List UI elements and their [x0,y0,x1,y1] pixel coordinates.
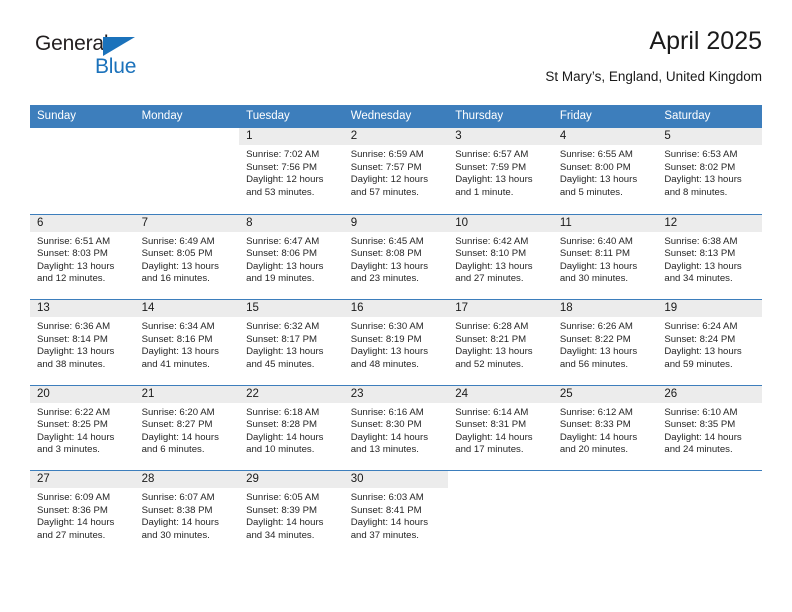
sunset-text: Sunset: 8:41 PM [351,505,445,518]
day-number: 28 [135,471,240,488]
sunrise-text: Sunrise: 6:53 AM [664,149,758,162]
day-sun-info: Sunrise: 6:45 AMSunset: 8:08 PMDaylight:… [344,232,449,286]
day-number [448,471,553,488]
daylight-text-line1: Daylight: 14 hours [142,517,236,530]
sunrise-text: Sunrise: 6:10 AM [664,407,758,420]
daylight-text-line2: and 57 minutes. [351,187,445,200]
daylight-text-line2: and 52 minutes. [455,359,549,372]
daylight-text-line1: Daylight: 13 hours [560,261,654,274]
calendar-weeks: 1Sunrise: 7:02 AMSunset: 7:56 PMDaylight… [30,128,762,556]
day-sun-info: Sunrise: 6:30 AMSunset: 8:19 PMDaylight:… [344,317,449,371]
daylight-text-line2: and 30 minutes. [142,530,236,543]
day-cell[interactable]: 23Sunrise: 6:16 AMSunset: 8:30 PMDayligh… [344,386,449,471]
day-sun-info: Sunrise: 6:36 AMSunset: 8:14 PMDaylight:… [30,317,135,371]
sunrise-text: Sunrise: 6:16 AM [351,407,445,420]
day-sun-info: Sunrise: 6:42 AMSunset: 8:10 PMDaylight:… [448,232,553,286]
page-subtitle: St Mary’s, England, United Kingdom [545,67,762,87]
logo-text-blue: Blue [95,55,136,79]
daylight-text-line1: Daylight: 14 hours [246,432,340,445]
daylight-text-line1: Daylight: 13 hours [246,261,340,274]
sunrise-text: Sunrise: 6:55 AM [560,149,654,162]
daylight-text-line2: and 34 minutes. [246,530,340,543]
day-sun-info: Sunrise: 6:20 AMSunset: 8:27 PMDaylight:… [135,403,240,457]
sunrise-text: Sunrise: 6:59 AM [351,149,445,162]
daylight-text-line1: Daylight: 13 hours [664,261,758,274]
day-cell[interactable]: 13Sunrise: 6:36 AMSunset: 8:14 PMDayligh… [30,300,135,385]
sunset-text: Sunset: 8:28 PM [246,419,340,432]
day-number: 25 [553,386,658,403]
day-number [553,471,658,488]
daylight-text-line1: Daylight: 13 hours [142,346,236,359]
day-cell[interactable]: 1Sunrise: 7:02 AMSunset: 7:56 PMDaylight… [239,128,344,214]
sunrise-text: Sunrise: 6:14 AM [455,407,549,420]
sunset-text: Sunset: 8:35 PM [664,419,758,432]
daylight-text-line1: Daylight: 14 hours [37,432,131,445]
day-cell[interactable]: 8Sunrise: 6:47 AMSunset: 8:06 PMDaylight… [239,215,344,300]
daylight-text-line2: and 5 minutes. [560,187,654,200]
day-sun-info: Sunrise: 6:03 AMSunset: 8:41 PMDaylight:… [344,488,449,542]
sunrise-text: Sunrise: 6:32 AM [246,321,340,334]
day-number: 15 [239,300,344,317]
daylight-text-line1: Daylight: 14 hours [664,432,758,445]
day-sun-info: Sunrise: 6:12 AMSunset: 8:33 PMDaylight:… [553,403,658,457]
sunrise-text: Sunrise: 6:30 AM [351,321,445,334]
day-sun-info: Sunrise: 6:07 AMSunset: 8:38 PMDaylight:… [135,488,240,542]
day-cell[interactable]: 25Sunrise: 6:12 AMSunset: 8:33 PMDayligh… [553,386,658,471]
day-cell[interactable]: 5Sunrise: 6:53 AMSunset: 8:02 PMDaylight… [657,128,762,214]
daylight-text-line2: and 45 minutes. [246,359,340,372]
calendar-week-row: 1Sunrise: 7:02 AMSunset: 7:56 PMDaylight… [30,128,762,214]
daylight-text-line2: and 27 minutes. [455,273,549,286]
logo-text-general: General [35,32,108,56]
sunrise-text: Sunrise: 6:49 AM [142,236,236,249]
daylight-text-line2: and 37 minutes. [351,530,445,543]
day-cell[interactable]: 11Sunrise: 6:40 AMSunset: 8:11 PMDayligh… [553,215,658,300]
day-number: 11 [553,215,658,232]
day-cell[interactable]: 15Sunrise: 6:32 AMSunset: 8:17 PMDayligh… [239,300,344,385]
daylight-text-line2: and 1 minute. [455,187,549,200]
day-cell[interactable]: 24Sunrise: 6:14 AMSunset: 8:31 PMDayligh… [448,386,553,471]
day-number: 17 [448,300,553,317]
daylight-text-line2: and 12 minutes. [37,273,131,286]
sunset-text: Sunset: 8:31 PM [455,419,549,432]
day-number: 30 [344,471,449,488]
sunset-text: Sunset: 8:33 PM [560,419,654,432]
daylight-text-line2: and 41 minutes. [142,359,236,372]
day-cell[interactable]: 6Sunrise: 6:51 AMSunset: 8:03 PMDaylight… [30,215,135,300]
day-cell[interactable]: 19Sunrise: 6:24 AMSunset: 8:24 PMDayligh… [657,300,762,385]
sunrise-text: Sunrise: 6:57 AM [455,149,549,162]
day-number: 16 [344,300,449,317]
day-number: 13 [30,300,135,317]
calendar-grid: Sunday Monday Tuesday Wednesday Thursday… [30,105,762,556]
day-number: 7 [135,215,240,232]
day-sun-info: Sunrise: 6:59 AMSunset: 7:57 PMDaylight:… [344,145,449,199]
sunrise-text: Sunrise: 6:38 AM [664,236,758,249]
daylight-text-line2: and 24 minutes. [664,444,758,457]
daylight-text-line1: Daylight: 14 hours [351,517,445,530]
weekday-header-tuesday: Tuesday [239,105,344,128]
sunset-text: Sunset: 8:25 PM [37,419,131,432]
day-sun-info: Sunrise: 6:05 AMSunset: 8:39 PMDaylight:… [239,488,344,542]
sunrise-text: Sunrise: 6:24 AM [664,321,758,334]
daylight-text-line2: and 53 minutes. [246,187,340,200]
sunrise-text: Sunrise: 6:51 AM [37,236,131,249]
sunset-text: Sunset: 8:24 PM [664,334,758,347]
day-sun-info: Sunrise: 6:24 AMSunset: 8:24 PMDaylight:… [657,317,762,371]
day-cell[interactable]: 4Sunrise: 6:55 AMSunset: 8:00 PMDaylight… [553,128,658,214]
sunset-text: Sunset: 8:17 PM [246,334,340,347]
weekday-header-sunday: Sunday [30,105,135,128]
calendar-week-row: 20Sunrise: 6:22 AMSunset: 8:25 PMDayligh… [30,385,762,471]
sunset-text: Sunset: 8:05 PM [142,248,236,261]
day-sun-info: Sunrise: 6:16 AMSunset: 8:30 PMDaylight:… [344,403,449,457]
sunset-text: Sunset: 8:02 PM [664,162,758,175]
day-sun-info: Sunrise: 6:51 AMSunset: 8:03 PMDaylight:… [30,232,135,286]
sunrise-text: Sunrise: 6:26 AM [560,321,654,334]
sunset-text: Sunset: 8:10 PM [455,248,549,261]
sunset-text: Sunset: 8:00 PM [560,162,654,175]
day-sun-info: Sunrise: 7:02 AMSunset: 7:56 PMDaylight:… [239,145,344,199]
calendar-week-row: 13Sunrise: 6:36 AMSunset: 8:14 PMDayligh… [30,299,762,385]
page-header: General Blue April 2025 St Mary’s, Engla… [30,24,762,94]
daylight-text-line2: and 16 minutes. [142,273,236,286]
daylight-text-line2: and 56 minutes. [560,359,654,372]
day-cell[interactable]: 3Sunrise: 6:57 AMSunset: 7:59 PMDaylight… [448,128,553,214]
sunset-text: Sunset: 8:19 PM [351,334,445,347]
sunrise-text: Sunrise: 6:22 AM [37,407,131,420]
daylight-text-line2: and 48 minutes. [351,359,445,372]
sunset-text: Sunset: 8:13 PM [664,248,758,261]
day-cell[interactable]: 18Sunrise: 6:26 AMSunset: 8:22 PMDayligh… [553,300,658,385]
daylight-text-line1: Daylight: 13 hours [455,346,549,359]
day-cell[interactable]: 17Sunrise: 6:28 AMSunset: 8:21 PMDayligh… [448,300,553,385]
day-number: 6 [30,215,135,232]
daylight-text-line1: Daylight: 14 hours [37,517,131,530]
daylight-text-line1: Daylight: 13 hours [351,261,445,274]
day-number: 24 [448,386,553,403]
day-cell[interactable]: 14Sunrise: 6:34 AMSunset: 8:16 PMDayligh… [135,300,240,385]
day-cell[interactable]: 12Sunrise: 6:38 AMSunset: 8:13 PMDayligh… [657,215,762,300]
weekday-header-monday: Monday [135,105,240,128]
daylight-text-line1: Daylight: 14 hours [351,432,445,445]
daylight-text-line2: and 13 minutes. [351,444,445,457]
day-number: 9 [344,215,449,232]
daylight-text-line1: Daylight: 13 hours [246,346,340,359]
sunset-text: Sunset: 8:30 PM [351,419,445,432]
day-sun-info: Sunrise: 6:55 AMSunset: 8:00 PMDaylight:… [553,145,658,199]
daylight-text-line2: and 23 minutes. [351,273,445,286]
day-number: 29 [239,471,344,488]
sunrise-text: Sunrise: 6:40 AM [560,236,654,249]
daylight-text-line1: Daylight: 14 hours [142,432,236,445]
sunrise-text: Sunrise: 6:36 AM [37,321,131,334]
daylight-text-line2: and 27 minutes. [37,530,131,543]
day-number: 22 [239,386,344,403]
sunset-text: Sunset: 8:21 PM [455,334,549,347]
daylight-text-line2: and 30 minutes. [560,273,654,286]
sunset-text: Sunset: 8:03 PM [37,248,131,261]
daylight-text-line1: Daylight: 14 hours [455,432,549,445]
daylight-text-line2: and 8 minutes. [664,187,758,200]
sunrise-text: Sunrise: 6:45 AM [351,236,445,249]
day-cell[interactable]: 2Sunrise: 6:59 AMSunset: 7:57 PMDaylight… [344,128,449,214]
daylight-text-line1: Daylight: 13 hours [455,261,549,274]
calendar-page: General Blue April 2025 St Mary’s, Engla… [0,0,792,612]
sunrise-text: Sunrise: 6:42 AM [455,236,549,249]
day-cell[interactable]: 27Sunrise: 6:09 AMSunset: 8:36 PMDayligh… [30,471,135,556]
sunset-text: Sunset: 8:14 PM [37,334,131,347]
day-number: 14 [135,300,240,317]
sunrise-text: Sunrise: 6:05 AM [246,492,340,505]
logo-triangle-icon [103,37,135,56]
daylight-text-line2: and 17 minutes. [455,444,549,457]
day-number: 19 [657,300,762,317]
day-number: 4 [553,128,658,145]
daylight-text-line1: Daylight: 13 hours [351,346,445,359]
sunset-text: Sunset: 7:57 PM [351,162,445,175]
day-number: 8 [239,215,344,232]
sunrise-text: Sunrise: 6:09 AM [37,492,131,505]
day-sun-info: Sunrise: 6:57 AMSunset: 7:59 PMDaylight:… [448,145,553,199]
daylight-text-line1: Daylight: 14 hours [560,432,654,445]
daylight-text-line1: Daylight: 14 hours [246,517,340,530]
sunrise-text: Sunrise: 6:07 AM [142,492,236,505]
daylight-text-line1: Daylight: 13 hours [455,174,549,187]
weekday-header-row: Sunday Monday Tuesday Wednesday Thursday… [30,105,762,128]
day-number: 20 [30,386,135,403]
sunset-text: Sunset: 8:06 PM [246,248,340,261]
sunrise-text: Sunrise: 6:18 AM [246,407,340,420]
day-sun-info: Sunrise: 6:47 AMSunset: 8:06 PMDaylight:… [239,232,344,286]
sunrise-text: Sunrise: 6:12 AM [560,407,654,420]
sunrise-text: Sunrise: 6:03 AM [351,492,445,505]
day-number: 1 [239,128,344,145]
daylight-text-line1: Daylight: 13 hours [560,174,654,187]
daylight-text-line2: and 10 minutes. [246,444,340,457]
day-sun-info: Sunrise: 6:40 AMSunset: 8:11 PMDaylight:… [553,232,658,286]
day-sun-info: Sunrise: 6:22 AMSunset: 8:25 PMDaylight:… [30,403,135,457]
daylight-text-line1: Daylight: 13 hours [560,346,654,359]
daylight-text-line2: and 59 minutes. [664,359,758,372]
sunset-text: Sunset: 8:08 PM [351,248,445,261]
daylight-text-line1: Daylight: 13 hours [37,346,131,359]
daylight-text-line2: and 20 minutes. [560,444,654,457]
day-number: 18 [553,300,658,317]
sunset-text: Sunset: 8:16 PM [142,334,236,347]
day-number: 27 [30,471,135,488]
day-cell[interactable]: 28Sunrise: 6:07 AMSunset: 8:38 PMDayligh… [135,471,240,556]
day-cell[interactable]: 21Sunrise: 6:20 AMSunset: 8:27 PMDayligh… [135,386,240,471]
weekday-header-wednesday: Wednesday [344,105,449,128]
day-sun-info: Sunrise: 6:09 AMSunset: 8:36 PMDaylight:… [30,488,135,542]
sunset-text: Sunset: 8:36 PM [37,505,131,518]
daylight-text-line2: and 6 minutes. [142,444,236,457]
calendar-week-row: 6Sunrise: 6:51 AMSunset: 8:03 PMDaylight… [30,214,762,300]
weekday-header-friday: Friday [553,105,658,128]
day-number [30,128,135,145]
daylight-text-line2: and 34 minutes. [664,273,758,286]
day-cell[interactable]: 7Sunrise: 6:49 AMSunset: 8:05 PMDaylight… [135,215,240,300]
daylight-text-line1: Daylight: 12 hours [246,174,340,187]
daylight-text-line2: and 38 minutes. [37,359,131,372]
day-sun-info: Sunrise: 6:28 AMSunset: 8:21 PMDaylight:… [448,317,553,371]
day-number [135,128,240,145]
day-sun-info: Sunrise: 6:18 AMSunset: 8:28 PMDaylight:… [239,403,344,457]
day-cell[interactable]: 26Sunrise: 6:10 AMSunset: 8:35 PMDayligh… [657,386,762,471]
general-blue-logo[interactable]: General Blue [35,32,165,84]
day-sun-info: Sunrise: 6:34 AMSunset: 8:16 PMDaylight:… [135,317,240,371]
daylight-text-line2: and 19 minutes. [246,273,340,286]
day-number [657,471,762,488]
daylight-text-line1: Daylight: 13 hours [37,261,131,274]
daylight-text-line1: Daylight: 12 hours [351,174,445,187]
sunset-text: Sunset: 7:59 PM [455,162,549,175]
daylight-text-line2: and 3 minutes. [37,444,131,457]
day-cell[interactable]: 29Sunrise: 6:05 AMSunset: 8:39 PMDayligh… [239,471,344,556]
calendar-week-row: 27Sunrise: 6:09 AMSunset: 8:36 PMDayligh… [30,470,762,556]
sunset-text: Sunset: 8:39 PM [246,505,340,518]
sunrise-text: Sunrise: 6:28 AM [455,321,549,334]
sunrise-text: Sunrise: 6:34 AM [142,321,236,334]
day-sun-info: Sunrise: 6:26 AMSunset: 8:22 PMDaylight:… [553,317,658,371]
sunset-text: Sunset: 8:11 PM [560,248,654,261]
day-number: 23 [344,386,449,403]
day-cell[interactable]: 9Sunrise: 6:45 AMSunset: 8:08 PMDaylight… [344,215,449,300]
day-sun-info: Sunrise: 6:49 AMSunset: 8:05 PMDaylight:… [135,232,240,286]
sunrise-text: Sunrise: 6:20 AM [142,407,236,420]
day-cell-empty [657,471,762,556]
day-number: 2 [344,128,449,145]
day-cell[interactable]: 16Sunrise: 6:30 AMSunset: 8:19 PMDayligh… [344,300,449,385]
page-title: April 2025 [545,24,762,58]
title-block: April 2025 St Mary’s, England, United Ki… [545,24,762,87]
day-cell[interactable]: 30Sunrise: 6:03 AMSunset: 8:41 PMDayligh… [344,471,449,556]
day-number: 5 [657,128,762,145]
sunrise-text: Sunrise: 7:02 AM [246,149,340,162]
daylight-text-line1: Daylight: 13 hours [664,346,758,359]
day-cell-empty [30,128,135,214]
sunset-text: Sunset: 8:27 PM [142,419,236,432]
day-number: 10 [448,215,553,232]
day-sun-info: Sunrise: 6:32 AMSunset: 8:17 PMDaylight:… [239,317,344,371]
day-sun-info: Sunrise: 6:38 AMSunset: 8:13 PMDaylight:… [657,232,762,286]
day-cell-empty [448,471,553,556]
sunset-text: Sunset: 8:22 PM [560,334,654,347]
sunset-text: Sunset: 8:38 PM [142,505,236,518]
day-cell-empty [135,128,240,214]
day-sun-info: Sunrise: 6:53 AMSunset: 8:02 PMDaylight:… [657,145,762,199]
weekday-header-thursday: Thursday [448,105,553,128]
day-cell[interactable]: 22Sunrise: 6:18 AMSunset: 8:28 PMDayligh… [239,386,344,471]
day-number: 26 [657,386,762,403]
daylight-text-line1: Daylight: 13 hours [664,174,758,187]
day-number: 21 [135,386,240,403]
day-cell[interactable]: 20Sunrise: 6:22 AMSunset: 8:25 PMDayligh… [30,386,135,471]
day-cell[interactable]: 10Sunrise: 6:42 AMSunset: 8:10 PMDayligh… [448,215,553,300]
day-number: 3 [448,128,553,145]
day-number: 12 [657,215,762,232]
weekday-header-saturday: Saturday [657,105,762,128]
day-cell-empty [553,471,658,556]
day-sun-info: Sunrise: 6:14 AMSunset: 8:31 PMDaylight:… [448,403,553,457]
day-sun-info: Sunrise: 6:10 AMSunset: 8:35 PMDaylight:… [657,403,762,457]
daylight-text-line1: Daylight: 13 hours [142,261,236,274]
sunset-text: Sunset: 7:56 PM [246,162,340,175]
sunrise-text: Sunrise: 6:47 AM [246,236,340,249]
